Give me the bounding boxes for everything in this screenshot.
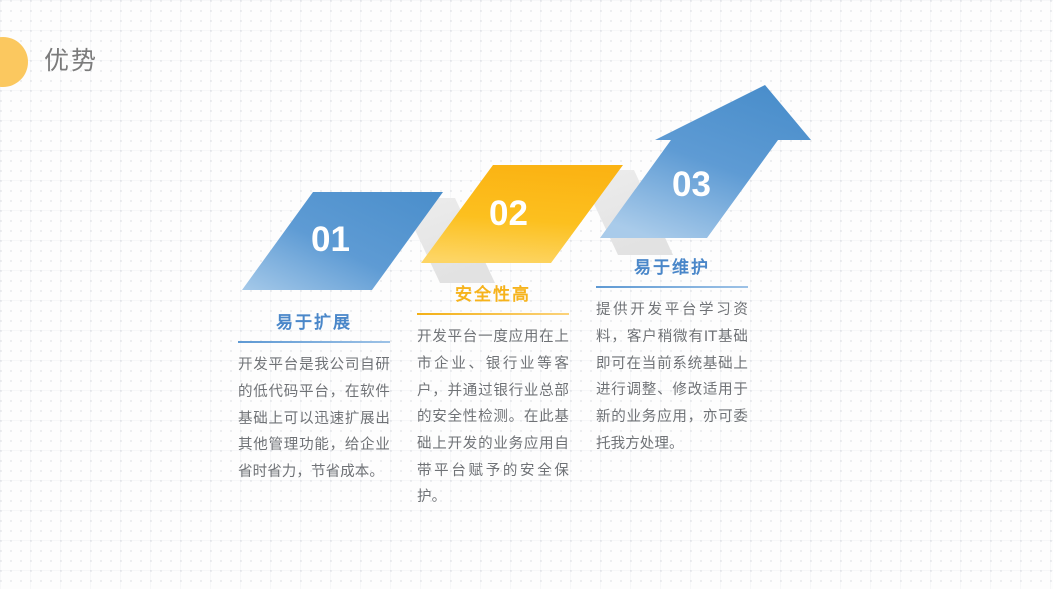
step-heading-03: 易于维护 <box>596 258 748 279</box>
connector-gray-2 <box>578 170 673 255</box>
slide-canvas: 优势 <box>0 0 1053 589</box>
step-rule-03 <box>596 286 748 288</box>
step-body-02: 开发平台一度应用在上市企业、银行业等客户，并通过银行业总部的安全性检测。在此基础… <box>417 324 569 511</box>
step-heading-02: 安全性高 <box>417 285 569 306</box>
step-column-02: 安全性高 开发平台一度应用在上市企业、银行业等客户，并通过银行业总部的安全性检测… <box>417 285 569 511</box>
step-number-03: 03 <box>672 167 711 202</box>
step-body-01: 开发平台是我公司自研的低代码平台，在软件基础上可以迅速扩展出其他管理功能，给企业… <box>238 352 390 485</box>
step-column-01: 易于扩展 开发平台是我公司自研的低代码平台，在软件基础上可以迅速扩展出其他管理功… <box>238 313 390 486</box>
step-shape-03 <box>600 85 811 238</box>
page-title: 优势 <box>44 41 98 77</box>
step-rule-01 <box>238 341 390 343</box>
step-number-02: 02 <box>489 196 528 231</box>
step-number-01: 01 <box>311 222 350 257</box>
step-column-03: 易于维护 提供开发平台学习资料，客户稍微有IT基础即可在当前系统基础上进行调整、… <box>596 258 748 457</box>
step-body-03: 提供开发平台学习资料，客户稍微有IT基础即可在当前系统基础上进行调整、修改适用于… <box>596 297 748 457</box>
connector-gray-1 <box>400 198 495 283</box>
step-heading-01: 易于扩展 <box>238 313 390 334</box>
header-accent-dot <box>0 37 28 87</box>
step-rule-02 <box>417 313 569 315</box>
